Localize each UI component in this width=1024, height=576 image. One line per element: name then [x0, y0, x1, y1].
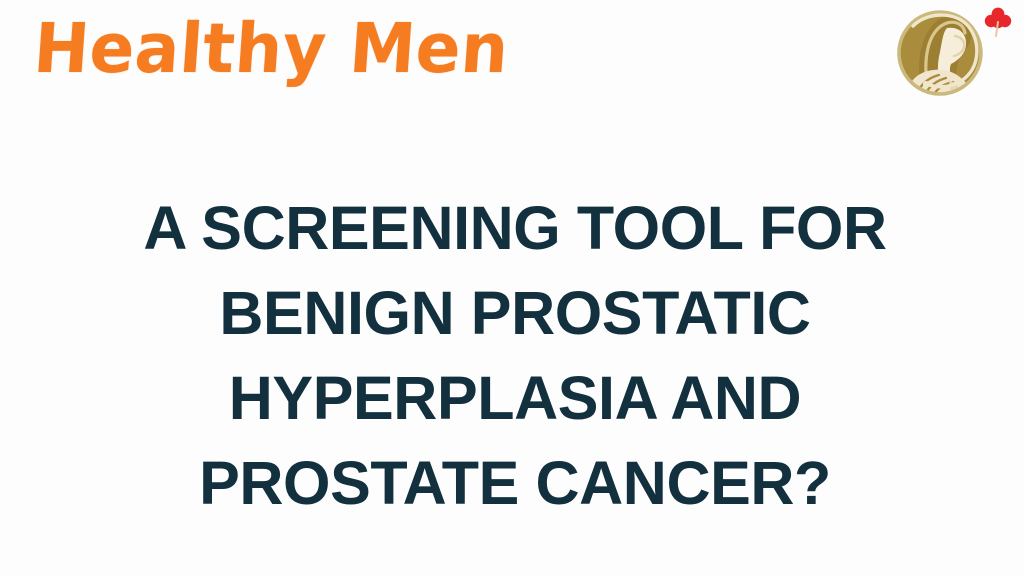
- headline-line-4: PROSTATE CANCER?: [6, 441, 1024, 526]
- page-title: A SCREENING TOOL FOR BENIGN PROSTATIC HY…: [0, 186, 1024, 526]
- headline-line-3: HYPERPLASIA AND: [6, 356, 1024, 441]
- brand-wordmark: Healthy Men: [31, 2, 512, 96]
- brand-header: Healthy Men: [0, 0, 1024, 115]
- red-floret-icon: [983, 6, 1013, 38]
- slide-canvas: Healthy Men: [0, 0, 1024, 576]
- healthy-men-medallion-logo-icon: [893, 6, 987, 100]
- headline-line-1: A SCREENING TOOL FOR: [6, 186, 1024, 271]
- headline-line-2: BENIGN PROSTATIC: [6, 271, 1024, 356]
